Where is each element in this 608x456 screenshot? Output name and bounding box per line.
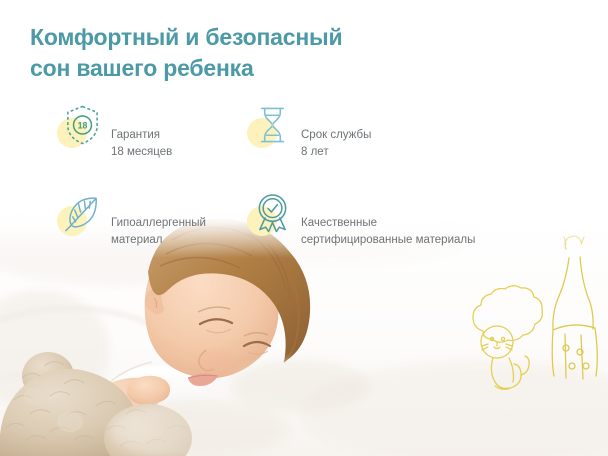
feature-hypoallergenic: Гипоаллергенный материал [57,192,247,266]
quality-seal-icon [247,192,292,238]
banner-header: Комфортный и безопасный сон вашего ребен… [0,0,608,83]
feature-hypoallergenic-line2: материал [111,232,206,249]
feature-warranty-text: Гарантия 18 месяцев [111,104,172,178]
feature-warranty: 18 Гарантия 18 месяцев [57,104,247,178]
page-title: Комфортный и безопасный сон вашего ребен… [30,22,578,83]
feature-hypoallergenic-text: Гипоаллергенный материал [111,192,206,266]
feature-lifespan-line1: Срок службы [301,129,371,141]
promo-banner: Комфортный и безопасный сон вашего ребен… [0,0,608,456]
feature-warranty-line2: 18 месяцев [111,144,172,161]
feature-lifespan-line2: 8 лет [301,144,371,161]
feature-lifespan-text: Срок службы 8 лет [301,104,371,178]
feature-hypoallergenic-line1: Гипоаллергенный [111,217,206,229]
feature-lifespan: Срок службы 8 лет [247,104,608,178]
feature-certified-text: Качественные сертифицированные материалы [301,192,475,266]
shield-badge-number: 18 [78,121,88,131]
feature-list: 18 Гарантия 18 месяцев [0,104,608,266]
feature-certified-line1: Качественные [301,217,377,229]
shield-18-icon: 18 [57,104,102,150]
feature-certified-line2: сертифицированные материалы [301,232,475,249]
feature-certified: Качественные сертифицированные материалы [247,192,608,266]
feather-icon [57,192,102,238]
feature-warranty-line1: Гарантия [111,129,160,141]
hourglass-icon [247,104,292,150]
